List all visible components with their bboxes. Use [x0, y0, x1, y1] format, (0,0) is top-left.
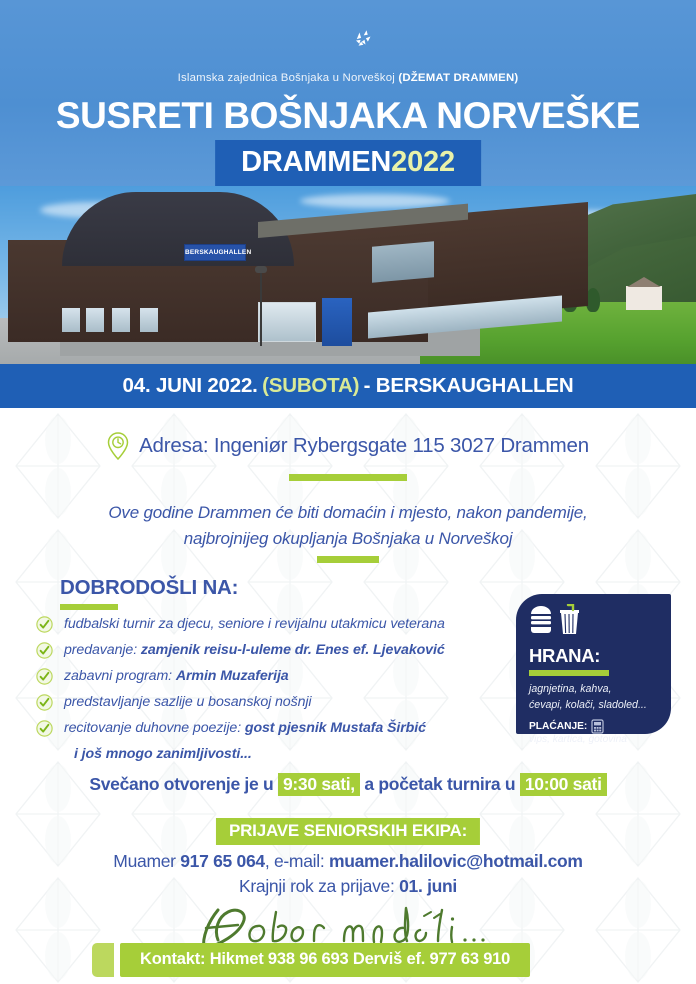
list-item-bold: Armin Muzaferija [176, 668, 289, 684]
cloud [300, 194, 450, 208]
welcome-heading: DOBRODOŠLI NA: [60, 576, 238, 600]
lamp-post [260, 270, 262, 346]
hall-sign-text: BERSKAUGHALLEN [185, 245, 245, 260]
list-item-plain: predavanje: [64, 642, 141, 658]
check-circle-icon [36, 642, 53, 659]
lead-line-1: Ove godine Drammen će biti domaćin i mje… [0, 500, 696, 526]
entrance-door [322, 298, 352, 346]
divider-top [289, 474, 407, 481]
date-day: (SUBOTA) [262, 374, 359, 398]
check-circle-icon [36, 694, 53, 711]
check-circle-icon [36, 720, 53, 737]
payment-row: PLAĆANJE: [529, 719, 658, 734]
welcome-dash [60, 604, 118, 610]
list-item-text: zabavni program: Armin Muzaferija [64, 668, 289, 685]
list-item-bold: gost pjesnik Mustafa Širbić [245, 720, 426, 736]
registration-contact-line: Muamer 917 65 064, e-mail: muamer.halilo… [0, 851, 696, 872]
tree [586, 288, 600, 312]
time-opening: 9:30 sati, [278, 773, 360, 796]
kontakt-tab [92, 943, 114, 977]
venue-photo: BERSKAUGHALLEN [0, 186, 696, 364]
list-item: recitovanje duhovne poezije: gost pjesni… [36, 720, 506, 737]
map-pin-clock-icon [107, 432, 129, 460]
date-band: 04. JUNI 2022. (SUBOTA) - BERSKAUGHALLEN [0, 364, 696, 408]
list-item-plain: fudbalski turnir za djecu, seniore i rev… [64, 616, 445, 632]
list-item-text: predstavljanje sazlije u bosanskoj nošnj… [64, 694, 311, 711]
poster-header: Islamska zajednica Bošnjaka u Norveškoj … [0, 0, 696, 190]
address-row: Adresa: Ingeniør Rybergsgate 115 3027 Dr… [0, 432, 696, 460]
list-item-text: predavanje: zamjenik reisu-l-uleme dr. E… [64, 642, 445, 659]
payment-label: PLAĆANJE: [529, 721, 587, 732]
food-items-line-2: ćevapi, kolači, sladoled... [529, 698, 658, 714]
deadline-label: Krajnji rok za prijave: [239, 876, 399, 896]
check-circle-icon [36, 616, 53, 633]
date-venue: - BERSKAUGHALLEN [364, 374, 574, 398]
time-start: 10:00 sati [520, 773, 607, 796]
window [86, 308, 104, 332]
contact-email-label: , e-mail: [265, 851, 329, 871]
contact-name: Muamer [113, 851, 180, 871]
window [140, 308, 158, 332]
hall-sign: BERSKAUGHALLEN [184, 244, 246, 261]
deadline-date: 01. juni [399, 876, 457, 896]
poster-title: SUSRETI BOŠNJAKA NORVEŠKE [0, 97, 696, 134]
payment-value: vips, kartica, gotovina [529, 734, 658, 745]
house [626, 286, 662, 310]
divider-mid [317, 556, 379, 563]
list-item-plain: zabavni program: [64, 668, 176, 684]
glass-front [258, 302, 316, 342]
list-item-text: recitovanje duhovne poezije: gost pjesni… [64, 720, 426, 737]
poster-body: Adresa: Ingeniør Rybergsgate 115 3027 Dr… [0, 408, 696, 984]
registration-badge: PRIJAVE SENIORSKIH EKIPA: [216, 818, 480, 845]
registration-deadline-line: Krajnji rok za prijave: 01. juni [0, 876, 696, 897]
date-text: 04. JUNI 2022. [123, 374, 258, 398]
title-band: DRAMMEN2022 [215, 140, 481, 187]
list-item: fudbalski turnir za djecu, seniore i rev… [36, 616, 506, 633]
poster: Islamska zajednica Bošnjaka u Norveškoj … [0, 0, 696, 984]
list-item: zabavni program: Armin Muzaferija [36, 668, 506, 685]
contact-phone: 917 65 064 [180, 851, 265, 871]
organization-line: Islamska zajednica Bošnjaka u Norveškoj … [0, 72, 696, 84]
times-mid: a početak turnira u [360, 774, 520, 794]
lead-paragraph: Ove godine Drammen će biti domaćin i mje… [0, 500, 696, 551]
window [112, 308, 130, 332]
window [62, 308, 80, 332]
organization-name: Islamska zajednica Bošnjaka u Norveškoj [178, 72, 399, 84]
kontakt-bar-wrap: Kontakt: Hikmet 938 96 693 Derviš ef. 97… [92, 943, 530, 977]
food-title: HRANA: [529, 645, 658, 667]
lead-line-2: najbrojnijeg okupljanja Bošnjaka u Norve… [0, 526, 696, 552]
times-pre: Svečano otvorenje je u [89, 774, 278, 794]
list-item-text: fudbalski turnir za djecu, seniore i rev… [64, 616, 445, 633]
welcome-extra: i još mnogo zanimljivosti... [74, 746, 506, 762]
payment-terminal-icon [591, 719, 604, 734]
food-items: jagnjetina, kahva, ćevapi, kolači, slado… [529, 682, 658, 714]
food-dash [529, 670, 609, 676]
list-item-plain: recitovanje duhovne poezije: [64, 720, 245, 736]
times-line: Svečano otvorenje je u 9:30 sati, a poče… [0, 774, 696, 795]
title-city: DRAMMEN [241, 146, 391, 178]
list-item: predavanje: zamjenik reisu-l-uleme dr. E… [36, 642, 506, 659]
title-year: 2022 [391, 146, 455, 178]
crescent-star-icon [315, 16, 381, 68]
contact-email[interactable]: muamer.halilovic@hotmail.com [329, 851, 583, 871]
logo-container [0, 16, 696, 73]
food-box: HRANA: jagnjetina, kahva, ćevapi, kolači… [516, 594, 671, 734]
check-circle-icon [36, 668, 53, 685]
list-item-plain: predstavljanje sazlije u bosanskoj nošnj… [64, 694, 311, 710]
address-text: Adresa: Ingeniør Rybergsgate 115 3027 Dr… [139, 434, 589, 458]
kontakt-bar: Kontakt: Hikmet 938 96 693 Derviš ef. 97… [120, 943, 530, 977]
list-item: predstavljanje sazlije u bosanskoj nošnj… [36, 694, 506, 711]
wall-mural [372, 241, 434, 282]
list-item-bold: zamjenik reisu-l-uleme dr. Enes ef. Ljev… [141, 642, 445, 658]
organization-branch: (DŽEMAT DRAMMEN) [398, 72, 518, 84]
burger-drink-icon [529, 604, 581, 638]
food-items-line-1: jagnjetina, kahva, [529, 682, 658, 698]
welcome-list: fudbalski turnir za djecu, seniore i rev… [36, 616, 506, 762]
